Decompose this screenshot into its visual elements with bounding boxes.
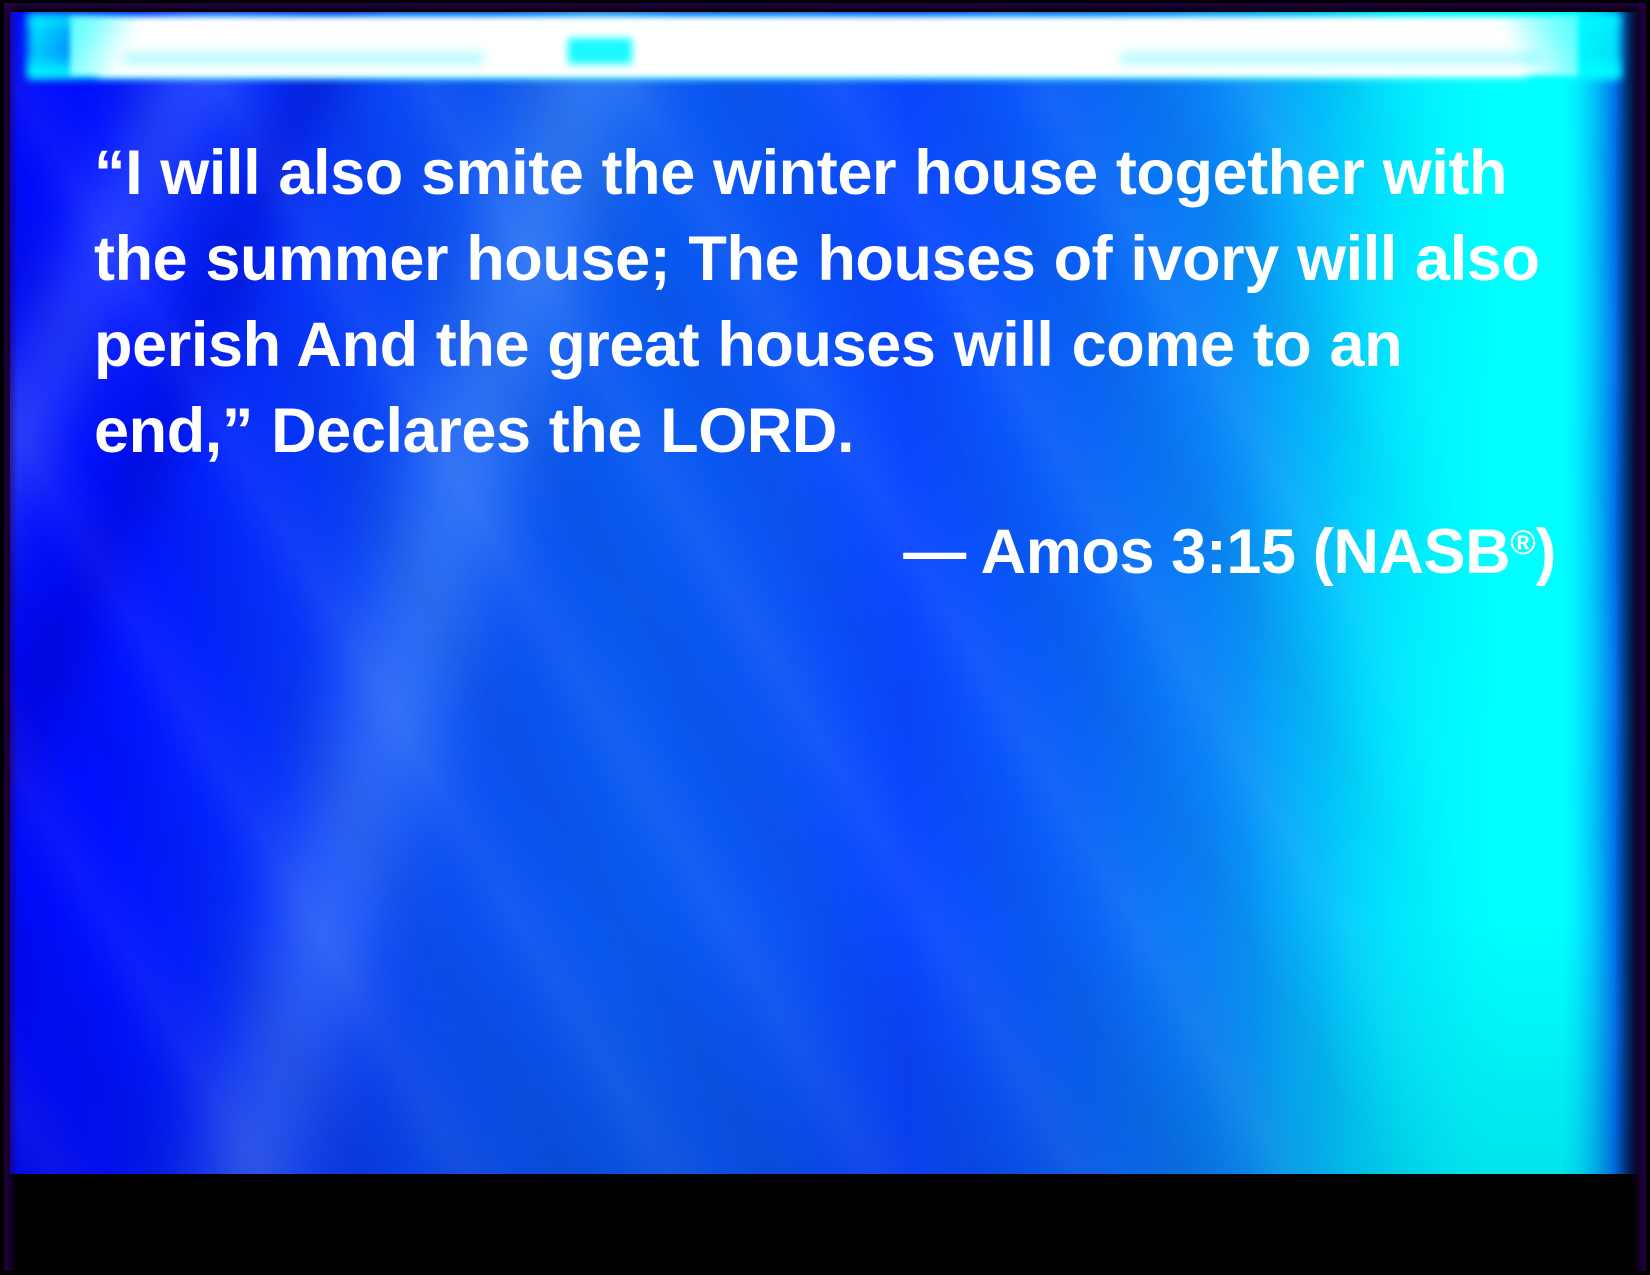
verse-attribution: — Amos 3:15 (NASB®) — [94, 516, 1564, 588]
verse-text: “I will also smite the winter house toge… — [94, 130, 1564, 474]
top-glow-cyan-left-corner — [28, 14, 148, 78]
top-glow-bar — [28, 12, 1620, 80]
slide-frame: “I will also smite the winter house toge… — [0, 0, 1650, 1275]
verse-block: “I will also smite the winter house toge… — [94, 130, 1564, 588]
registered-trademark-icon: ® — [1510, 524, 1535, 562]
top-glow-cyan-bump — [568, 38, 632, 64]
verse-attribution-prefix: — Amos 3:15 (NASB — [903, 517, 1510, 587]
top-glow-wisp-left — [124, 52, 484, 64]
top-glow-wisp-right — [1120, 52, 1540, 64]
slide-canvas: “I will also smite the winter house toge… — [10, 12, 1640, 1174]
verse-attribution-suffix: ) — [1535, 517, 1556, 587]
top-glow-cyan-right-corner — [1490, 14, 1620, 78]
